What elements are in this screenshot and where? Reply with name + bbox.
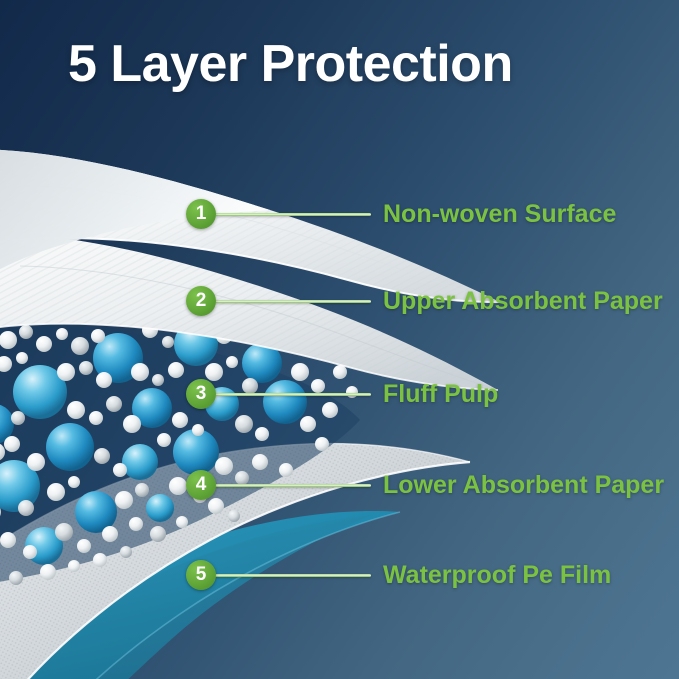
layer-badge-3: 3 [186, 379, 216, 409]
layer-badge-5: 5 [186, 560, 216, 590]
layer-badge-4: 4 [186, 470, 216, 500]
layer-badge-2: 2 [186, 286, 216, 316]
layer-label-1: Non-woven Surface [383, 200, 616, 229]
callout-layer-3[interactable]: 3 Fluff Pulp [186, 377, 498, 411]
layer-badge-1: 1 [186, 199, 216, 229]
leader-line-1 [215, 213, 371, 216]
callout-layer-1[interactable]: 1 Non-woven Surface [186, 197, 616, 231]
layer-label-4: Lower Absorbent Paper [383, 471, 664, 500]
callout-layer-2[interactable]: 2 Upper Absorbent Paper [186, 284, 663, 318]
leader-line-2 [215, 300, 371, 303]
infographic-poster: 5 Layer Protection 1 Non-woven Surface 2… [0, 0, 679, 679]
page-title: 5 Layer Protection [68, 34, 513, 94]
layer-label-5: Waterproof Pe Film [383, 561, 611, 590]
layer-label-3: Fluff Pulp [383, 380, 498, 409]
callout-layer-5[interactable]: 5 Waterproof Pe Film [186, 558, 611, 592]
layer-label-2: Upper Absorbent Paper [383, 287, 663, 316]
leader-line-4 [215, 484, 371, 487]
callout-layer-4[interactable]: 4 Lower Absorbent Paper [186, 468, 664, 502]
leader-line-5 [215, 574, 371, 577]
leader-line-3 [215, 393, 371, 396]
